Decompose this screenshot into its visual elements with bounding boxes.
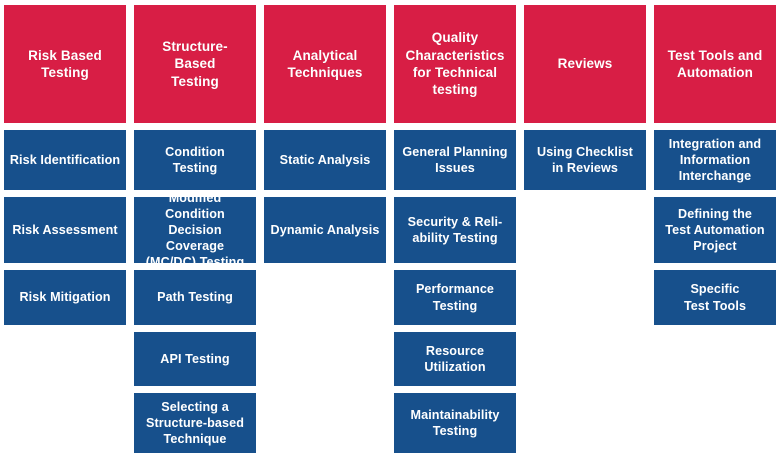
empty-cell: [264, 393, 386, 453]
topic-box-condition-testing[interactable]: Condition Testing: [134, 130, 256, 190]
category-header-structure-based-testing[interactable]: Structure-Based Testing: [134, 5, 256, 123]
empty-cell: [264, 332, 386, 386]
topic-label: Dynamic Analysis: [268, 222, 382, 238]
topic-cell-general-planning-issues: General Planning Issues: [394, 130, 516, 190]
topic-box-risk-assessment[interactable]: Risk Assessment: [4, 197, 126, 263]
topic-box-maintainability-testing[interactable]: Maintainability Testing: [394, 393, 516, 453]
topic-label: Condition Testing: [138, 144, 252, 176]
topic-label: Defining the Test Automation Project: [658, 206, 772, 254]
topic-cell-performance-testing: Performance Testing: [394, 270, 516, 325]
topic-box-static-analysis[interactable]: Static Analysis: [264, 130, 386, 190]
header-cell-reviews: Reviews: [524, 5, 646, 123]
empty-cell: [524, 393, 646, 453]
header-cell-risk-based-testing: Risk Based Testing: [4, 5, 126, 123]
topic-box-defining-the-test-automation-project[interactable]: Defining the Test Automation Project: [654, 197, 776, 263]
topic-label: Using Checklist in Reviews: [528, 144, 642, 176]
category-header-label: Quality Characteristics for Technical te…: [402, 29, 508, 98]
topic-cell-modified-condition-decision-coverage-mc-dc-testi: Modified Condition Decision Coverage (MC…: [134, 197, 256, 263]
category-header-analytical-techniques[interactable]: Analytical Techniques: [264, 5, 386, 123]
empty-cell: [524, 332, 646, 386]
topic-cell-resource-utilization: Resource Utilization: [394, 332, 516, 386]
topic-label: Integration and Information Interchange: [658, 136, 772, 184]
topic-cell-static-analysis: Static Analysis: [264, 130, 386, 190]
topic-label: Security & Reli- ability Testing: [398, 214, 512, 246]
header-cell-test-tools-and-automation: Test Tools and Automation: [654, 5, 776, 123]
empty-cell: [264, 270, 386, 325]
topic-cell-selecting-a-structure-based-technique: Selecting a Structure-based Technique: [134, 393, 256, 453]
topic-box-security-reli-ability-testing[interactable]: Security & Reli- ability Testing: [394, 197, 516, 263]
topic-label: API Testing: [138, 351, 252, 367]
topic-label: Performance Testing: [398, 281, 512, 313]
topic-cell-using-checklist-in-reviews: Using Checklist in Reviews: [524, 130, 646, 190]
topic-cell-path-testing: Path Testing: [134, 270, 256, 325]
category-header-label: Risk Based Testing: [12, 47, 118, 82]
topic-label: General Planning Issues: [398, 144, 512, 176]
topic-box-performance-testing[interactable]: Performance Testing: [394, 270, 516, 325]
topic-box-dynamic-analysis[interactable]: Dynamic Analysis: [264, 197, 386, 263]
topic-box-general-planning-issues[interactable]: General Planning Issues: [394, 130, 516, 190]
topic-cell-risk-assessment: Risk Assessment: [4, 197, 126, 263]
category-header-label: Reviews: [532, 55, 638, 72]
empty-cell: [4, 332, 126, 386]
topic-box-specific-test-tools[interactable]: Specific Test Tools: [654, 270, 776, 325]
topic-label: Path Testing: [138, 289, 252, 305]
empty-cell: [654, 393, 776, 453]
category-header-label: Test Tools and Automation: [662, 47, 768, 82]
topic-cell-dynamic-analysis: Dynamic Analysis: [264, 197, 386, 263]
topic-label: Risk Mitigation: [8, 289, 122, 305]
topic-label: Maintainability Testing: [398, 407, 512, 439]
topic-box-risk-mitigation[interactable]: Risk Mitigation: [4, 270, 126, 325]
topic-label: Specific Test Tools: [658, 281, 772, 313]
empty-cell: [524, 270, 646, 325]
topic-label: Resource Utilization: [398, 343, 512, 375]
topic-cell-specific-test-tools: Specific Test Tools: [654, 270, 776, 325]
category-header-risk-based-testing[interactable]: Risk Based Testing: [4, 5, 126, 123]
category-header-label: Analytical Techniques: [272, 47, 378, 82]
topic-label: Modified Condition Decision Coverage (MC…: [138, 197, 252, 263]
empty-cell: [524, 197, 646, 263]
category-header-quality-characteristics-for-technical-testing[interactable]: Quality Characteristics for Technical te…: [394, 5, 516, 123]
topic-box-path-testing[interactable]: Path Testing: [134, 270, 256, 325]
header-cell-structure-based-testing: Structure-Based Testing: [134, 5, 256, 123]
topic-cell-integration-and-information-interchange: Integration and Information Interchange: [654, 130, 776, 190]
category-header-test-tools-and-automation[interactable]: Test Tools and Automation: [654, 5, 776, 123]
topic-cell-api-testing: API Testing: [134, 332, 256, 386]
topic-label: Static Analysis: [268, 152, 382, 168]
category-header-label: Structure-Based Testing: [142, 38, 248, 90]
topic-cell-maintainability-testing: Maintainability Testing: [394, 393, 516, 453]
topic-cell-condition-testing: Condition Testing: [134, 130, 256, 190]
topic-cell-security-reli-ability-testing: Security & Reli- ability Testing: [394, 197, 516, 263]
topic-box-selecting-a-structure-based-technique[interactable]: Selecting a Structure-based Technique: [134, 393, 256, 453]
topic-box-resource-utilization[interactable]: Resource Utilization: [394, 332, 516, 386]
category-header-reviews[interactable]: Reviews: [524, 5, 646, 123]
topic-cell-risk-mitigation: Risk Mitigation: [4, 270, 126, 325]
header-cell-analytical-techniques: Analytical Techniques: [264, 5, 386, 123]
topic-label: Risk Assessment: [8, 222, 122, 238]
topic-box-modified-condition-decision-coverage-mc-dc-testi[interactable]: Modified Condition Decision Coverage (MC…: [134, 197, 256, 263]
topic-box-integration-and-information-interchange[interactable]: Integration and Information Interchange: [654, 130, 776, 190]
topic-label: Risk Identification: [8, 152, 122, 168]
empty-cell: [654, 332, 776, 386]
empty-cell: [4, 393, 126, 453]
topic-box-using-checklist-in-reviews[interactable]: Using Checklist in Reviews: [524, 130, 646, 190]
topic-overview-grid: Risk Based TestingStructure-Based Testin…: [0, 0, 780, 440]
topic-cell-defining-the-test-automation-project: Defining the Test Automation Project: [654, 197, 776, 263]
topic-box-api-testing[interactable]: API Testing: [134, 332, 256, 386]
topic-box-risk-identification[interactable]: Risk Identification: [4, 130, 126, 190]
topic-cell-risk-identification: Risk Identification: [4, 130, 126, 190]
header-cell-quality-characteristics-for-technical-testing: Quality Characteristics for Technical te…: [394, 5, 516, 123]
